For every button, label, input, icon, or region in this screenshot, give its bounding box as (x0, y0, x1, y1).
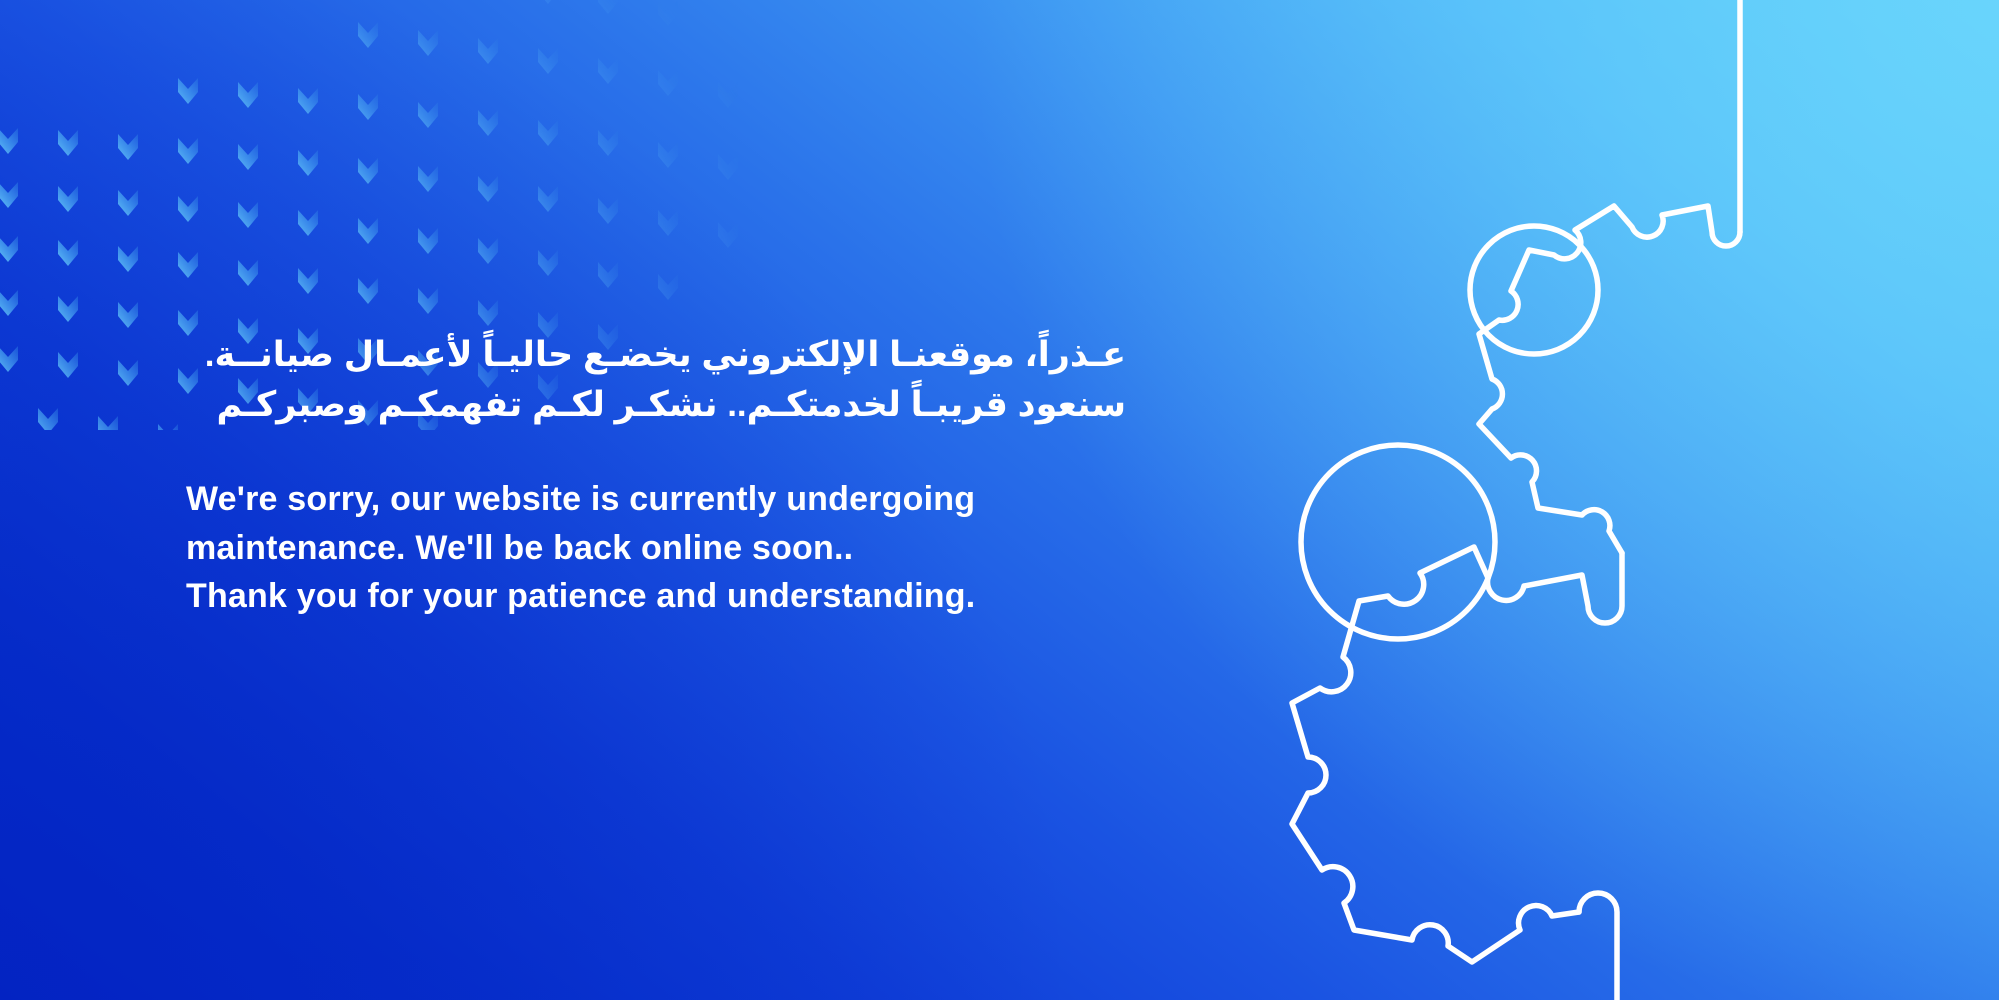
maintenance-page: عـذراً، موقعنـا الإلكتروني يخضـع حاليـاً… (0, 0, 1999, 1000)
gear-illustration (1230, 0, 1999, 1000)
large-gear-hub (1301, 445, 1495, 639)
english-message: We're sorry, our website is currently un… (186, 475, 1166, 620)
arabic-message: عـذراً، موقعنـا الإلكتروني يخضـع حاليـاً… (186, 330, 1126, 429)
maintenance-message: عـذراً، موقعنـا الإلكتروني يخضـع حاليـاً… (186, 330, 1166, 620)
english-line-1: We're sorry, our website is currently un… (186, 475, 1166, 523)
large-gear (1292, 445, 1622, 962)
arabic-line-2: سنعود قريبـاً لخدمتكـم.. نشكـر لكـم تفهم… (186, 380, 1126, 430)
english-line-3: Thank you for your patience and understa… (186, 572, 1166, 620)
small-gear-hub (1470, 226, 1598, 354)
bottom-connector-line (1579, 893, 1617, 1000)
english-line-2: maintenance. We'll be back online soon.. (186, 524, 1166, 572)
arabic-line-1: عـذراً، موقعنـا الإلكتروني يخضـع حاليـاً… (186, 330, 1126, 380)
small-gear (1470, 206, 1740, 553)
